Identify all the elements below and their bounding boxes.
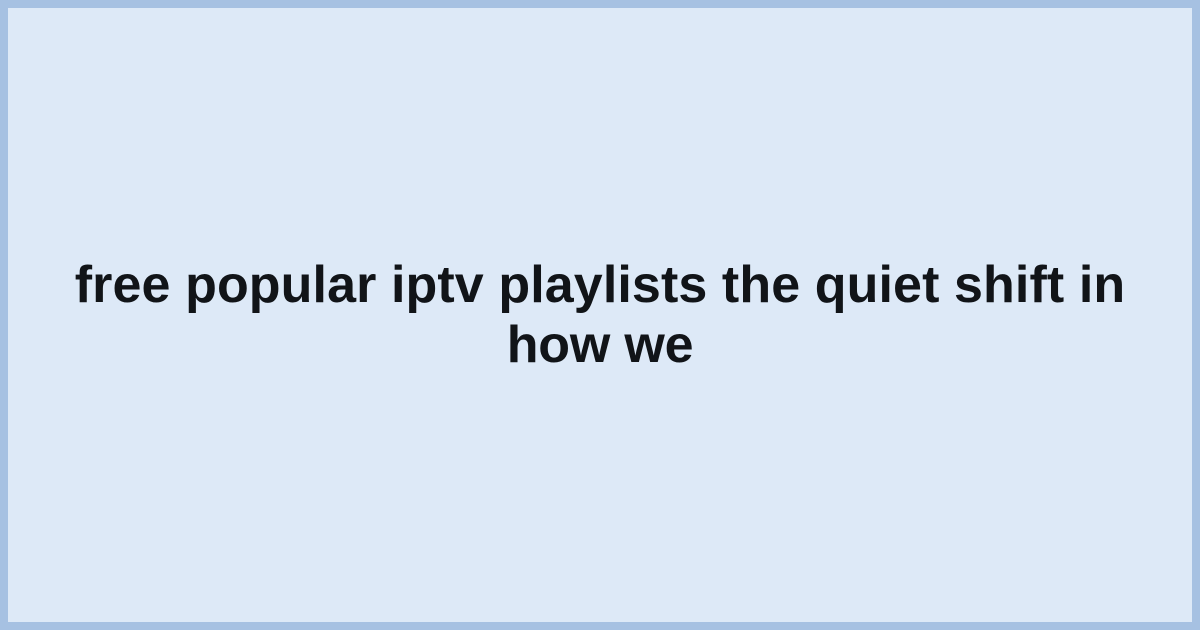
headline-line-1: free popular iptv playlists the quiet sh…: [28, 255, 1172, 315]
page-title: free popular iptv playlists the quiet sh…: [28, 255, 1172, 376]
share-card: free popular iptv playlists the quiet sh…: [0, 0, 1200, 630]
headline-block: free popular iptv playlists the quiet sh…: [8, 255, 1192, 376]
headline-line-2: how we: [28, 315, 1172, 375]
